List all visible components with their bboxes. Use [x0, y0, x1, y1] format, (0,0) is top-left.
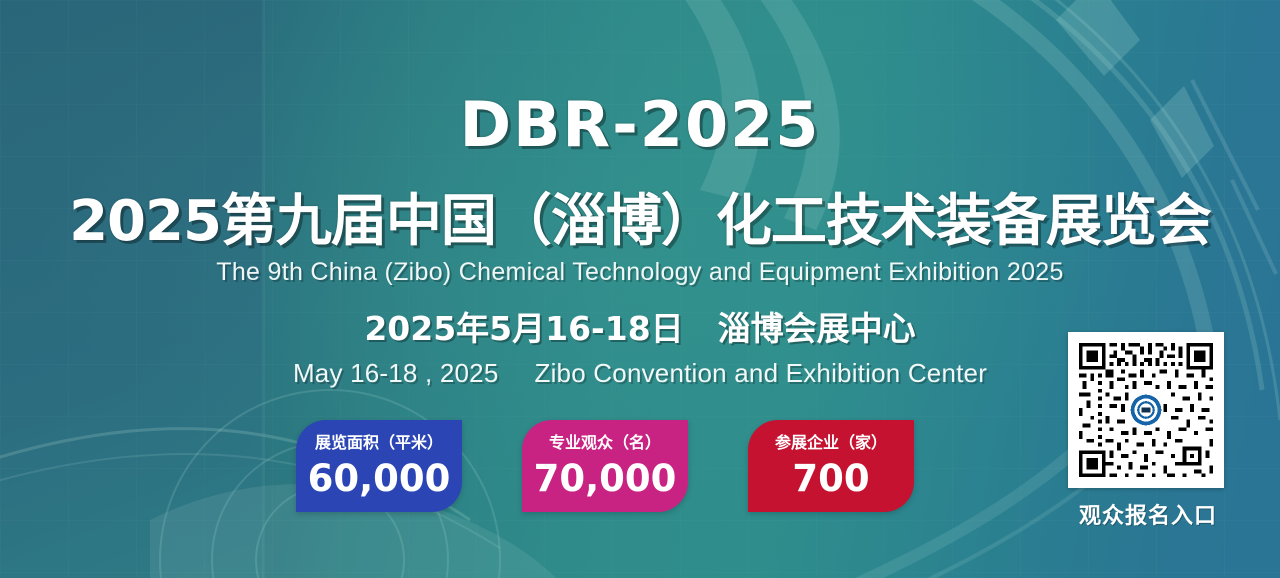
stat-value: 70,000: [534, 460, 677, 497]
stat-value: 700: [792, 460, 869, 497]
stat-value: 60,000: [308, 460, 451, 497]
event-venue-english: Zibo Convention and Exhibition Center: [535, 358, 988, 388]
stat-badge-professional-visitors: 专业观众（名） 70,000: [522, 420, 688, 512]
stat-label: 展览面积（平米）: [315, 435, 443, 451]
exhibition-banner: DBR-2025 2025第九届中国（淄博）化工技术装备展览会 The 9th …: [0, 0, 1280, 578]
event-date-chinese: 2025年5月16-18日: [364, 309, 683, 348]
event-date-english: May 16-18 , 2025: [293, 358, 499, 388]
stat-badge-exhibition-area: 展览面积（平米） 60,000: [296, 420, 462, 512]
qr-caption-label: 观众报名入口: [1068, 498, 1228, 530]
qr-code-icon[interactable]: [1068, 332, 1224, 488]
banner-content: DBR-2025 2025第九届中国（淄博）化工技术装备展览会 The 9th …: [0, 0, 1280, 578]
event-title-chinese: 2025第九届中国（淄博）化工技术装备展览会: [0, 176, 1280, 257]
event-venue-chinese: 淄博会展中心: [718, 309, 916, 348]
event-title-english: The 9th China (Zibo) Chemical Technology…: [0, 258, 1280, 287]
stat-badge-exhibiting-companies: 参展企业（家） 700: [748, 420, 914, 512]
stat-label: 参展企业（家）: [775, 435, 887, 451]
qr-registration-block[interactable]: 观众报名入口: [1068, 332, 1228, 530]
stat-label: 专业观众（名）: [549, 435, 661, 451]
statistics-badges: 展览面积（平米） 60,000 专业观众（名） 70,000 参展企业（家） 7…: [296, 420, 914, 512]
event-code-title: DBR-2025: [0, 88, 1280, 161]
qr-center-logo: [1131, 395, 1162, 426]
